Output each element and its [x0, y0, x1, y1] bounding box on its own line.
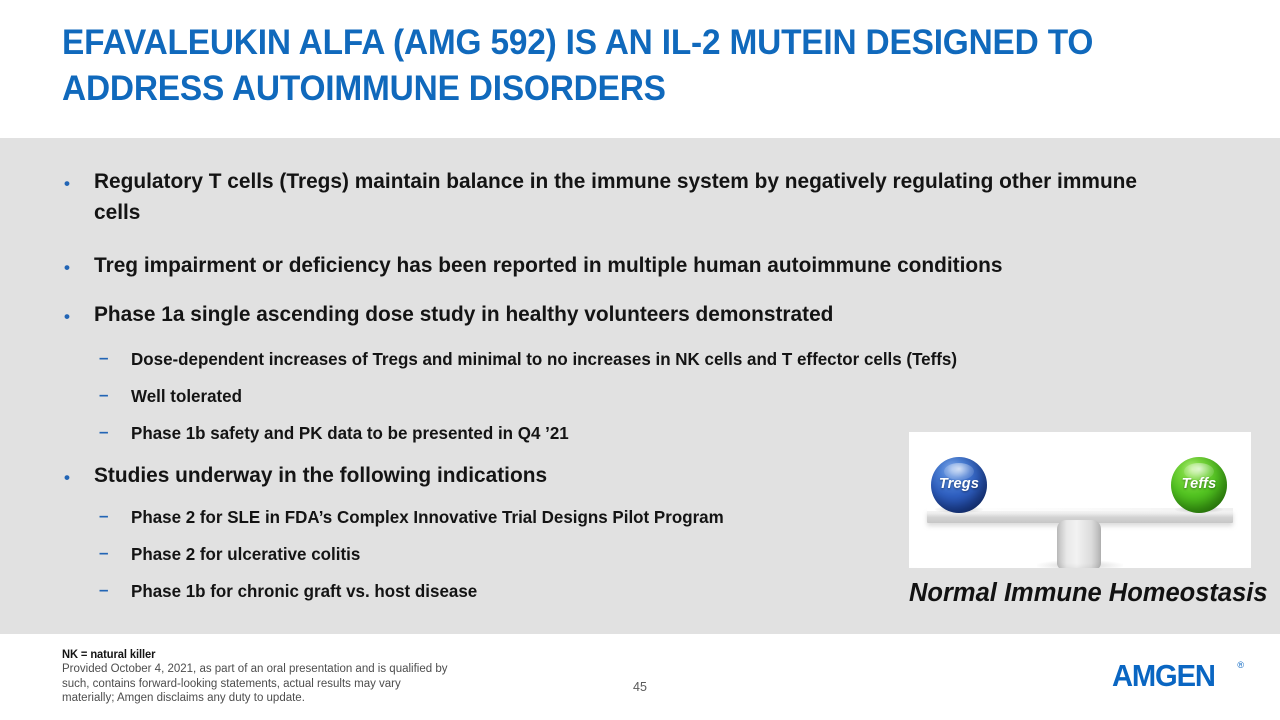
bullet-dot-icon: • [64, 259, 70, 276]
page-number: 45 [612, 680, 668, 694]
list-item-label: Dose-dependent increases of Tregs and mi… [131, 347, 1168, 372]
tregs-sphere: Tregs [931, 457, 987, 513]
illustration-canvas: Tregs Teffs [909, 432, 1251, 568]
list-item-label: Phase 1a single ascending dose study in … [94, 299, 1167, 330]
bullet-dash-icon: – [99, 423, 108, 440]
figure-caption: Normal Immune Homeostasis [909, 578, 1259, 608]
registered-trademark-icon: ® [1237, 661, 1244, 670]
list-item-label: Treg impairment or deficiency has been r… [94, 250, 1167, 281]
teffs-sphere: Teffs [1171, 457, 1227, 513]
abbreviation-note: NK = natural killer [62, 648, 155, 662]
fulcrum [1057, 520, 1101, 568]
slide-title: EFAVALEUKIN ALFA (AMG 592) IS AN IL-2 MU… [62, 20, 1242, 112]
bullet-dot-icon: • [64, 175, 70, 192]
tregs-sphere-label: Tregs [939, 476, 979, 492]
disclaimer-line: Provided October 4, 2021, as part of an … [62, 662, 582, 677]
title-line-2: ADDRESS AUTOIMMUNE DISORDERS [62, 66, 1189, 112]
list-item-label: Regulatory T cells (Tregs) maintain bala… [94, 166, 1167, 228]
bullet-dash-icon: – [99, 349, 108, 366]
disclaimer-text: Provided October 4, 2021, as part of an … [62, 662, 582, 706]
amgen-wordmark: AMGEN [1112, 660, 1236, 692]
disclaimer-line: such, contains forward-looking statement… [62, 677, 582, 692]
bullet-dash-icon: – [99, 507, 108, 524]
bullet-dot-icon: • [64, 308, 70, 325]
amgen-logo: AMGEN ® [1112, 660, 1244, 694]
list-item: • Regulatory T cells (Tregs) maintain ba… [0, 166, 1200, 228]
list-item: – Dose-dependent increases of Tregs and … [0, 347, 1200, 372]
bullet-dash-icon: – [99, 386, 108, 403]
bullet-dash-icon: – [99, 544, 108, 561]
teffs-sphere-label: Teffs [1182, 476, 1217, 492]
list-item: • Treg impairment or deficiency has been… [0, 250, 1200, 281]
list-item-label: Well tolerated [131, 384, 1168, 409]
list-item: • Phase 1a single ascending dose study i… [0, 299, 1200, 330]
bullet-dash-icon: – [99, 581, 108, 598]
title-line-1: EFAVALEUKIN ALFA (AMG 592) IS AN IL-2 MU… [62, 20, 1189, 66]
list-item: – Well tolerated [0, 384, 1200, 409]
immune-balance-illustration: Tregs Teffs [909, 432, 1251, 568]
bullet-dot-icon: • [64, 469, 70, 486]
disclaimer-line: materially; Amgen disclaims any duty to … [62, 691, 582, 706]
